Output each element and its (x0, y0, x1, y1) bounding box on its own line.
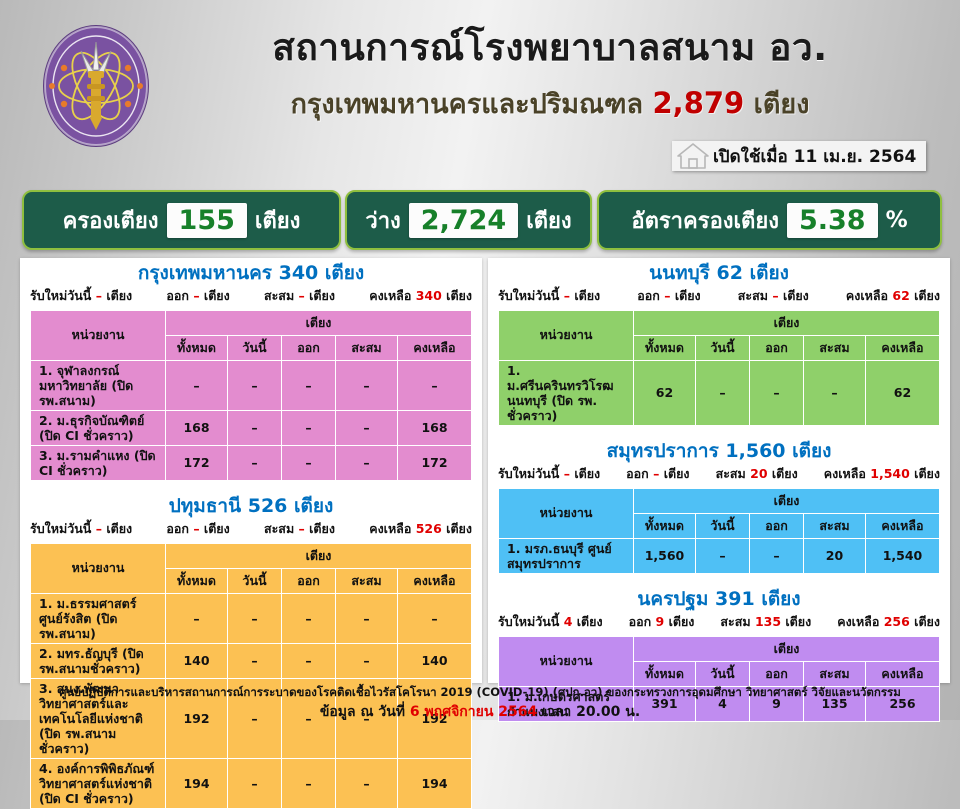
stat-accum-value: 20 (750, 466, 767, 481)
stat-out-label: ออก (626, 466, 649, 481)
province-bed-unit: เตียง (792, 440, 831, 462)
row-unit-name: 1. จุฬาลงกรณ์มหาวิทยาลัย (ปิด รพ.สนาม) (31, 360, 166, 410)
province-total-beds: 391 (715, 588, 755, 610)
table-row: 1. ม.ธรรมศาสตร์ ศูนย์รังสิต (ปิด รพ.สนาม… (31, 593, 472, 643)
summary-rate-unit: % (886, 208, 908, 233)
row-remain: 1,540 (865, 538, 939, 573)
col-header-accum: สะสม (803, 335, 865, 360)
col-header-accum: สะสม (803, 513, 865, 538)
row-remain: 62 (865, 360, 939, 425)
province-title-pathumthani: ปทุมธานี 526 เตียง (20, 491, 482, 519)
row-remain: 172 (397, 445, 471, 480)
stat-accum-unit: เตียง (309, 521, 335, 536)
stat-out-unit: เตียง (675, 288, 701, 303)
col-header-unit: หน่วยงาน (499, 488, 634, 538)
col-header-total: ทั้งหมด (165, 568, 227, 593)
row-today: – (695, 360, 749, 425)
stat-out-unit: เตียง (664, 466, 690, 481)
table-row: 1. มรภ.ธนบุรี ศูนย์สมุทรปราการ1,560––201… (499, 538, 940, 573)
stat-accum-unit: เตียง (785, 614, 811, 629)
row-today: – (227, 758, 281, 808)
stat-remain-value: 256 (884, 614, 910, 629)
section-spacer (488, 574, 950, 584)
stat-new-today-value: – (564, 288, 570, 303)
col-header-unit: หน่วยงาน (499, 310, 634, 360)
row-total: 62 (633, 360, 695, 425)
table-row: 3. ม.รามคำแหง (ปิด CI ชั่วคราว)172–––172 (31, 445, 472, 480)
left-column: กรุงเทพมหานคร 340 เตียงรับใหม่วันนี้ – เ… (20, 258, 482, 683)
col-header-out: ออก (749, 335, 803, 360)
row-today: – (227, 360, 281, 410)
dashboard-page: สถานการณ์โรงพยาบาลสนาม อว. กรุงเทพมหานคร… (0, 0, 960, 720)
row-accum: – (335, 445, 397, 480)
col-header-unit: หน่วยงาน (31, 543, 166, 593)
stat-out-label: ออก (166, 288, 189, 303)
stat-out-value: – (653, 466, 659, 481)
stat-out-value: 9 (656, 614, 665, 629)
province-block-bangkok: กรุงเทพมหานคร 340 เตียงรับใหม่วันนี้ – เ… (20, 258, 482, 481)
bed-table-bangkok: หน่วยงานเตียงทั้งหมดวันนี้ออกสะสมคงเหลือ… (30, 310, 472, 481)
stat-new-today-value: 4 (564, 614, 573, 629)
province-title-samutprakan: สมุทรปราการ 1,560 เตียง (488, 436, 950, 464)
stat-remain-label: คงเหลือ (824, 466, 866, 481)
col-header-accum: สะสม (335, 568, 397, 593)
col-header-group-beds: เตียง (165, 310, 471, 335)
stat-out-label: ออก (629, 614, 652, 629)
bed-table-nonthaburi: หน่วยงานเตียงทั้งหมดวันนี้ออกสะสมคงเหลือ… (498, 310, 940, 426)
table-row: 1. จุฬาลงกรณ์มหาวิทยาลัย (ปิด รพ.สนาม)––… (31, 360, 472, 410)
footer-date-value: 6 พฤศจิกายน 2564 (410, 704, 537, 720)
row-today: – (227, 410, 281, 445)
province-title-nakhonpathom: นครปฐม 391 เตียง (488, 584, 950, 612)
stat-accum-label: สะสม (264, 288, 294, 303)
col-header-accum: สะสม (335, 335, 397, 360)
province-block-samutprakan: สมุทรปราการ 1,560 เตียงรับใหม่วันนี้ – เ… (488, 436, 950, 574)
summary-row: ครองเตียง 155 เตียง ว่าง 2,724 เตียง อัต… (0, 190, 960, 252)
row-today: – (227, 643, 281, 678)
stat-out-value: – (193, 521, 199, 536)
footer-date-prefix: ข้อมูล ณ วันที่ (320, 704, 405, 720)
table-row: 4. องค์การพิพิธภัณฑ์วิทยาศาสตร์แห่งชาติ … (31, 758, 472, 808)
row-accum: – (803, 360, 865, 425)
province-name: นนทบุรี (649, 262, 710, 284)
bed-table-pathumthani: หน่วยงานเตียงทั้งหมดวันนี้ออกสะสมคงเหลือ… (30, 543, 472, 809)
stat-new-today-unit: เตียง (106, 521, 132, 536)
stat-remain-label: คงเหลือ (837, 614, 879, 629)
stat-out-value: – (193, 288, 199, 303)
stat-out-label: ออก (637, 288, 660, 303)
row-today: – (227, 445, 281, 480)
stat-new-today-label: รับใหม่วันนี้ (30, 521, 91, 536)
col-header-out: ออก (749, 513, 803, 538)
row-total: 1,560 (633, 538, 695, 573)
opened-date-text: เปิดใช้เมื่อ 11 เม.ย. 2564 (713, 143, 916, 170)
summary-card-occupied: ครองเตียง 155 เตียง (22, 190, 341, 250)
stat-out-label: ออก (166, 521, 189, 536)
table-header-row-group: หน่วยงานเตียง (499, 488, 940, 513)
row-today: – (695, 538, 749, 573)
col-header-remain: คงเหลือ (397, 568, 471, 593)
stat-remain-label: คงเหลือ (846, 288, 888, 303)
col-header-accum: สะสม (803, 661, 865, 686)
stat-remain-value: 526 (416, 521, 442, 536)
province-name: นครปฐม (637, 588, 708, 610)
summary-occupied-value: 155 (167, 203, 247, 238)
footer-time: เวลา 20.00 น. (542, 704, 640, 720)
stat-new-today-value: – (564, 466, 570, 481)
province-bed-unit: เตียง (325, 262, 364, 284)
stat-new-today-unit: เตียง (574, 466, 600, 481)
row-remain: – (397, 360, 471, 410)
right-column: นนทบุรี 62 เตียงรับใหม่วันนี้ – เตียงออก… (488, 258, 950, 683)
row-out: – (281, 410, 335, 445)
stat-accum-unit: เตียง (309, 288, 335, 303)
page-header: สถานการณ์โรงพยาบาลสนาม อว. กรุงเทพมหานคร… (0, 0, 960, 182)
col-header-remain: คงเหลือ (865, 335, 939, 360)
row-today: – (227, 593, 281, 643)
stat-new-today-unit: เตียง (106, 288, 132, 303)
summary-free-unit: เตียง (526, 203, 571, 238)
stat-accum-label: สะสม (738, 288, 768, 303)
province-total-beds: 1,560 (725, 440, 785, 462)
row-unit-name: 3. ม.รามคำแหง (ปิด CI ชั่วคราว) (31, 445, 166, 480)
province-block-nonthaburi: นนทบุรี 62 เตียงรับใหม่วันนี้ – เตียงออก… (488, 258, 950, 426)
province-total-beds: 526 (248, 495, 288, 517)
stat-accum-label: สะสม (716, 466, 746, 481)
summary-card-free: ว่าง 2,724 เตียง (345, 190, 592, 250)
col-header-remain: คงเหลือ (865, 513, 939, 538)
page-subtitle: กรุงเทพมหานครและปริมณฑล 2,879 เตียง (170, 88, 930, 120)
table-header-row-group: หน่วยงานเตียง (499, 310, 940, 335)
col-header-today: วันนี้ (695, 335, 749, 360)
col-header-remain: คงเหลือ (397, 335, 471, 360)
footer: ศูนย์ปฏิบัติการและบริหารสถานการณ์การระบา… (0, 684, 960, 724)
row-accum: – (335, 643, 397, 678)
table-row: 2. มทร.ธัญบุรี (ปิด รพ.สนามชั่วคราว)140–… (31, 643, 472, 678)
stat-out-unit: เตียง (669, 614, 695, 629)
row-accum: – (335, 758, 397, 808)
col-header-out: ออก (749, 661, 803, 686)
stat-remain-label: คงเหลือ (369, 288, 411, 303)
section-spacer (20, 481, 482, 491)
stat-accum-unit: เตียง (772, 466, 798, 481)
stat-remain-value: 1,540 (870, 466, 910, 481)
col-header-today: วันนี้ (695, 661, 749, 686)
summary-rate-value: 5.38 (787, 203, 878, 238)
province-bed-unit: เตียง (761, 588, 800, 610)
table-row: 1. ม.ศรีนครินทรวิโรฒ นนทบุรี (ปิด รพ. ชั… (499, 360, 940, 425)
stat-new-today-label: รับใหม่วันนี้ (498, 466, 559, 481)
table-header-row-group: หน่วยงานเตียง (499, 636, 940, 661)
table-header-row-group: หน่วยงานเตียง (31, 310, 472, 335)
row-accum: – (335, 360, 397, 410)
row-out: – (281, 445, 335, 480)
province-stats-bangkok: รับใหม่วันนี้ – เตียงออก – เตียงสะสม – เ… (20, 286, 482, 310)
col-header-unit: หน่วยงาน (31, 310, 166, 360)
stat-out-unit: เตียง (204, 288, 230, 303)
row-out: – (749, 538, 803, 573)
summary-occupied-label: ครองเตียง (63, 203, 159, 238)
subtitle-bed-unit: เตียง (754, 89, 810, 120)
summary-card-occupancy-rate: อัตราครองเตียง 5.38 % (597, 190, 942, 250)
stat-new-today-unit: เตียง (574, 288, 600, 303)
stat-accum-value: – (299, 288, 305, 303)
stat-new-today-value: – (96, 288, 102, 303)
stat-accum-label: สะสม (264, 521, 294, 536)
province-name: กรุงเทพมหานคร (138, 262, 272, 284)
stat-remain-unit: เตียง (914, 466, 940, 481)
col-header-remain: คงเหลือ (865, 661, 939, 686)
province-title-bangkok: กรุงเทพมหานคร 340 เตียง (20, 258, 482, 286)
stat-accum-value: – (772, 288, 778, 303)
col-header-today: วันนี้ (695, 513, 749, 538)
table-header-row-group: หน่วยงานเตียง (31, 543, 472, 568)
stat-new-today-unit: เตียง (577, 614, 603, 629)
col-header-group-beds: เตียง (633, 310, 939, 335)
province-stats-samutprakan: รับใหม่วันนี้ – เตียงออก – เตียงสะสม 20 … (488, 464, 950, 488)
opened-date-badge: เปิดใช้เมื่อ 11 เม.ย. 2564 (672, 141, 926, 171)
row-out: – (749, 360, 803, 425)
province-title-nonthaburi: นนทบุรี 62 เตียง (488, 258, 950, 286)
summary-free-value: 2,724 (409, 203, 518, 238)
summary-occupied-unit: เตียง (255, 203, 300, 238)
stat-accum-label: สะสม (720, 614, 750, 629)
col-header-group-beds: เตียง (633, 488, 939, 513)
province-total-beds: 340 (279, 262, 319, 284)
col-header-group-beds: เตียง (165, 543, 471, 568)
row-remain: – (397, 593, 471, 643)
province-bed-unit: เตียง (750, 262, 789, 284)
subtitle-region: กรุงเทพมหานครและปริมณฑล (291, 89, 644, 120)
province-stats-nakhonpathom: รับใหม่วันนี้ 4 เตียงออก 9 เตียงสะสม 135… (488, 612, 950, 636)
stat-remain-value: 340 (416, 288, 442, 303)
col-header-out: ออก (281, 335, 335, 360)
row-out: – (281, 643, 335, 678)
stat-accum-value: – (299, 521, 305, 536)
table-row: 2. ม.ธุรกิจบัณฑิตย์ (ปิด CI ชั่วคราว)168… (31, 410, 472, 445)
row-unit-name: 2. ม.ธุรกิจบัณฑิตย์ (ปิด CI ชั่วคราว) (31, 410, 166, 445)
row-out: – (281, 593, 335, 643)
stat-remain-unit: เตียง (446, 288, 472, 303)
section-spacer (488, 426, 950, 436)
stat-new-today-value: – (96, 521, 102, 536)
row-total: 194 (165, 758, 227, 808)
province-total-beds: 62 (717, 262, 743, 284)
stat-new-today-label: รับใหม่วันนี้ (498, 288, 559, 303)
row-out: – (281, 758, 335, 808)
stat-new-today-label: รับใหม่วันนี้ (30, 288, 91, 303)
col-header-total: ทั้งหมด (165, 335, 227, 360)
bed-table-samutprakan: หน่วยงานเตียงทั้งหมดวันนี้ออกสะสมคงเหลือ… (498, 488, 940, 574)
row-total: – (165, 360, 227, 410)
stat-out-unit: เตียง (204, 521, 230, 536)
province-stats-pathumthani: รับใหม่วันนี้ – เตียงออก – เตียงสะสม – เ… (20, 519, 482, 543)
stat-remain-label: คงเหลือ (369, 521, 411, 536)
col-header-today: วันนี้ (227, 335, 281, 360)
province-name: สมุทรปราการ (607, 440, 719, 462)
province-stats-nonthaburi: รับใหม่วันนี้ – เตียงออก – เตียงสะสม – เ… (488, 286, 950, 310)
row-remain: 194 (397, 758, 471, 808)
stat-new-today-label: รับใหม่วันนี้ (498, 614, 559, 629)
stat-remain-unit: เตียง (914, 614, 940, 629)
row-unit-name: 4. องค์การพิพิธภัณฑ์วิทยาศาสตร์แห่งชาติ … (31, 758, 166, 808)
stat-remain-unit: เตียง (914, 288, 940, 303)
col-header-today: วันนี้ (227, 568, 281, 593)
row-remain: 168 (397, 410, 471, 445)
row-total: 140 (165, 643, 227, 678)
stat-remain-value: 62 (892, 288, 909, 303)
stat-remain-unit: เตียง (446, 521, 472, 536)
col-header-total: ทั้งหมด (633, 513, 695, 538)
col-header-total: ทั้งหมด (633, 335, 695, 360)
row-accum: 20 (803, 538, 865, 573)
row-accum: – (335, 410, 397, 445)
col-header-total: ทั้งหมด (633, 661, 695, 686)
ministry-logo (36, 18, 156, 154)
row-accum: – (335, 593, 397, 643)
col-header-out: ออก (281, 568, 335, 593)
stat-accum-unit: เตียง (783, 288, 809, 303)
footer-line-1: ศูนย์ปฏิบัติการและบริหารสถานการณ์การระบา… (0, 684, 960, 702)
stat-out-value: – (664, 288, 670, 303)
col-header-unit: หน่วยงาน (499, 636, 634, 686)
province-block-pathumthani: ปทุมธานี 526 เตียงรับใหม่วันนี้ – เตียงอ… (20, 491, 482, 809)
row-total: 172 (165, 445, 227, 480)
stat-accum-value: 135 (755, 614, 781, 629)
summary-free-label: ว่าง (365, 203, 400, 238)
page-title: สถานการณ์โรงพยาบาลสนาม อว. (170, 28, 930, 69)
row-out: – (281, 360, 335, 410)
summary-rate-label: อัตราครองเตียง (631, 203, 779, 238)
house-icon (676, 142, 710, 170)
col-header-group-beds: เตียง (633, 636, 939, 661)
row-unit-name: 1. ม.ธรรมศาสตร์ ศูนย์รังสิต (ปิด รพ.สนาม… (31, 593, 166, 643)
province-bed-unit: เตียง (294, 495, 333, 517)
row-total: – (165, 593, 227, 643)
row-total: 168 (165, 410, 227, 445)
subtitle-total-beds: 2,879 (653, 86, 745, 120)
footer-line-2: ข้อมูล ณ วันที่ 6 พฤศจิกายน 2564 เวลา 20… (0, 702, 960, 724)
row-unit-name: 2. มทร.ธัญบุรี (ปิด รพ.สนามชั่วคราว) (31, 643, 166, 678)
row-unit-name: 1. ม.ศรีนครินทรวิโรฒ นนทบุรี (ปิด รพ. ชั… (499, 360, 634, 425)
province-name: ปทุมธานี (169, 495, 241, 517)
row-unit-name: 1. มรภ.ธนบุรี ศูนย์สมุทรปราการ (499, 538, 634, 573)
row-remain: 140 (397, 643, 471, 678)
